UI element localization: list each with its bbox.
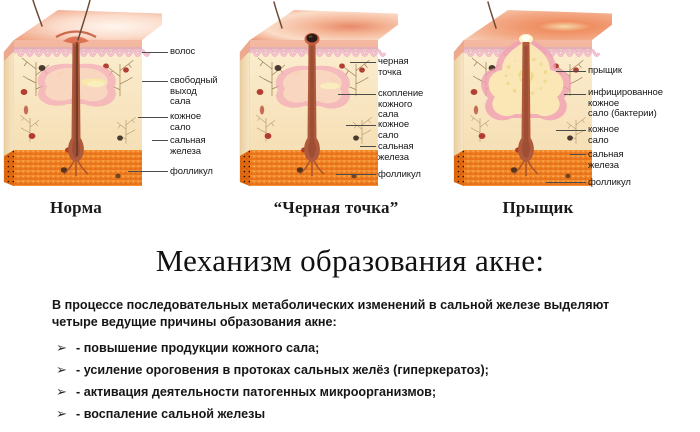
- callout-label: прыщик: [588, 66, 622, 77]
- callout-label: фолликул: [170, 167, 213, 178]
- skin-diagram-strip: волоссвободный выход салакожное салосаль…: [0, 0, 700, 232]
- cause-text: - повышение продукции кожного сала;: [76, 338, 319, 358]
- skin-panel-norma: волоссвободный выход салакожное салосаль…: [2, 0, 235, 232]
- skin-block-comedone: [238, 0, 398, 200]
- panel-caption-pimple: Прыщик: [458, 198, 618, 218]
- callout-label: фолликул: [378, 170, 421, 181]
- panel-caption-blackhead: “Черная точка”: [236, 198, 436, 218]
- arrow-bullet-icon: ➢: [56, 338, 76, 358]
- callout-label: скопление кожного сала: [378, 89, 423, 121]
- leader-line: [336, 174, 376, 175]
- page-title: Механизм образования акне:: [0, 243, 700, 279]
- leader-line: [564, 94, 586, 95]
- arrow-bullet-icon: ➢: [56, 404, 76, 424]
- leader-line: [350, 62, 376, 63]
- callout-label: инфицированное кожное сало (бактерии): [588, 88, 663, 120]
- intro-paragraph: В процессе последовательных метаболическ…: [52, 297, 652, 330]
- leader-line: [152, 140, 168, 141]
- cause-item: ➢- воспаление сальной железы: [56, 404, 680, 426]
- cause-text: - усиление ороговения в протоках сальных…: [76, 360, 489, 380]
- arrow-bullet-icon: ➢: [56, 382, 76, 402]
- leader-line: [128, 171, 168, 172]
- leader-line: [546, 182, 586, 183]
- panel-caption-norma: Норма: [0, 198, 156, 218]
- leader-line: [142, 52, 168, 53]
- cause-item: ➢- активация деятельности патогенных мик…: [56, 382, 680, 404]
- leader-line: [360, 146, 376, 147]
- callout-label: сальная железа: [588, 150, 624, 171]
- skin-panel-pimple: прыщикинфицированное кожное сало (бактер…: [452, 0, 685, 232]
- skin-block-normal: [2, 0, 162, 200]
- callout-label: кожное сало: [588, 125, 619, 146]
- leader-line: [570, 154, 586, 155]
- callout-label: черная точка: [378, 57, 409, 78]
- leader-line: [338, 94, 376, 95]
- callout-label: фолликул: [588, 178, 631, 189]
- leader-line: [138, 117, 168, 118]
- leader-line: [142, 81, 168, 82]
- cause-item: ➢- усиление ороговения в протоках сальны…: [56, 360, 680, 382]
- callout-label: сальная железа: [378, 142, 414, 163]
- causes-list: ➢- повышение продукции кожного сала;➢- у…: [56, 338, 680, 426]
- callout-label: волос: [170, 47, 195, 58]
- leader-line: [556, 130, 586, 131]
- callout-label: сальная железа: [170, 136, 206, 157]
- skin-panel-blackhead: черная точкаскопление кожного салакожное…: [238, 0, 471, 232]
- cause-text: - активация деятельности патогенных микр…: [76, 382, 436, 402]
- callout-label: свободный выход сала: [170, 76, 218, 108]
- callout-label: кожное сало: [170, 112, 201, 133]
- leader-line: [556, 71, 586, 72]
- arrow-bullet-icon: ➢: [56, 360, 76, 380]
- leader-line: [346, 125, 376, 126]
- callout-label: кожное сало: [378, 120, 409, 141]
- cause-text: - воспаление сальной железы: [76, 404, 265, 424]
- cause-item: ➢- повышение продукции кожного сала;: [56, 338, 680, 360]
